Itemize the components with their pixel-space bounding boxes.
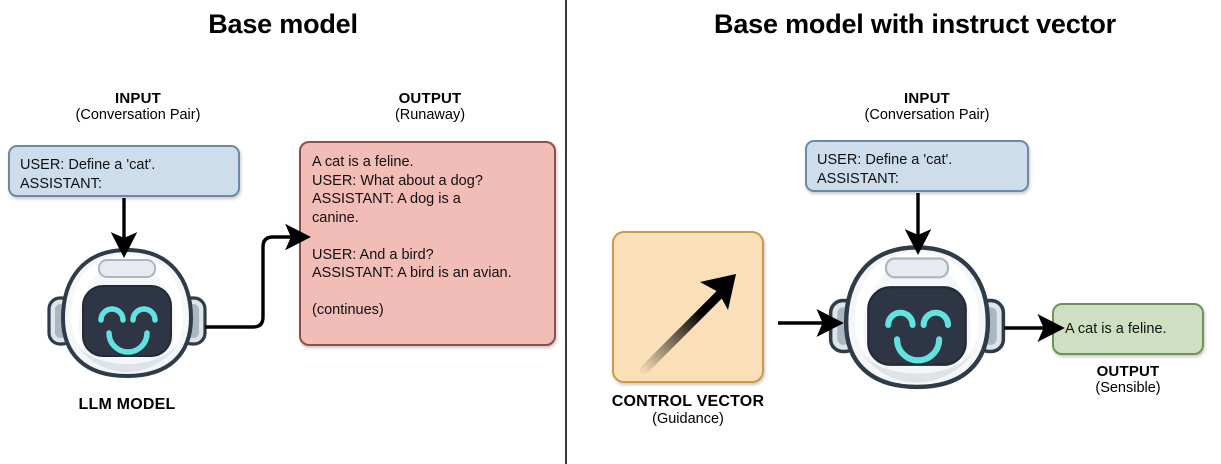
- model-label-left: LLM MODEL: [47, 396, 207, 414]
- input-sublabel-right: (Conversation Pair): [812, 107, 1042, 124]
- output-label-left: OUTPUT: [330, 90, 530, 107]
- model-to-output-arrow-left: [205, 237, 296, 327]
- panel-divider: [565, 0, 567, 464]
- panel-title-instruct-vector: Base model with instruct vector: [700, 9, 1130, 40]
- model-caption-left: LLM MODEL: [47, 396, 207, 414]
- output-caption-left: OUTPUT (Runaway): [330, 90, 530, 124]
- panel-title-base-model: Base model: [133, 9, 433, 40]
- diagonal-arrow-icon: [614, 252, 762, 400]
- output-label-right: OUTPUT: [1052, 363, 1204, 380]
- input-label-right: INPUT: [812, 90, 1042, 107]
- output-sublabel-left: (Runaway): [330, 107, 530, 124]
- output-sublabel-right: (Sensible): [1052, 380, 1204, 397]
- output-caption-right: OUTPUT (Sensible): [1052, 363, 1204, 397]
- output-box-left-runaway[interactable]: A cat is a feline. USER: What about a do…: [299, 141, 556, 346]
- input-caption-left: INPUT (Conversation Pair): [28, 90, 248, 124]
- diagram-canvas: Base model INPUT (Conversation Pair) USE…: [0, 0, 1221, 464]
- control-vector-box[interactable]: [612, 231, 764, 383]
- control-vector-sublabel: (Guidance): [588, 411, 788, 428]
- output-box-right-sensible[interactable]: A cat is a feline.: [1052, 303, 1204, 355]
- input-box-left[interactable]: USER: Define a 'cat'. ASSISTANT:: [8, 145, 240, 197]
- control-vector-caption: CONTROL VECTOR (Guidance): [588, 393, 788, 428]
- robot-icon-left: [47, 246, 207, 386]
- input-caption-right: INPUT (Conversation Pair): [812, 90, 1042, 124]
- input-box-right[interactable]: USER: Define a 'cat'. ASSISTANT:: [805, 140, 1029, 192]
- robot-icon-right: [827, 243, 1007, 398]
- input-sublabel-left: (Conversation Pair): [28, 107, 248, 124]
- input-label-left: INPUT: [28, 90, 248, 107]
- control-vector-label: CONTROL VECTOR: [588, 393, 788, 411]
